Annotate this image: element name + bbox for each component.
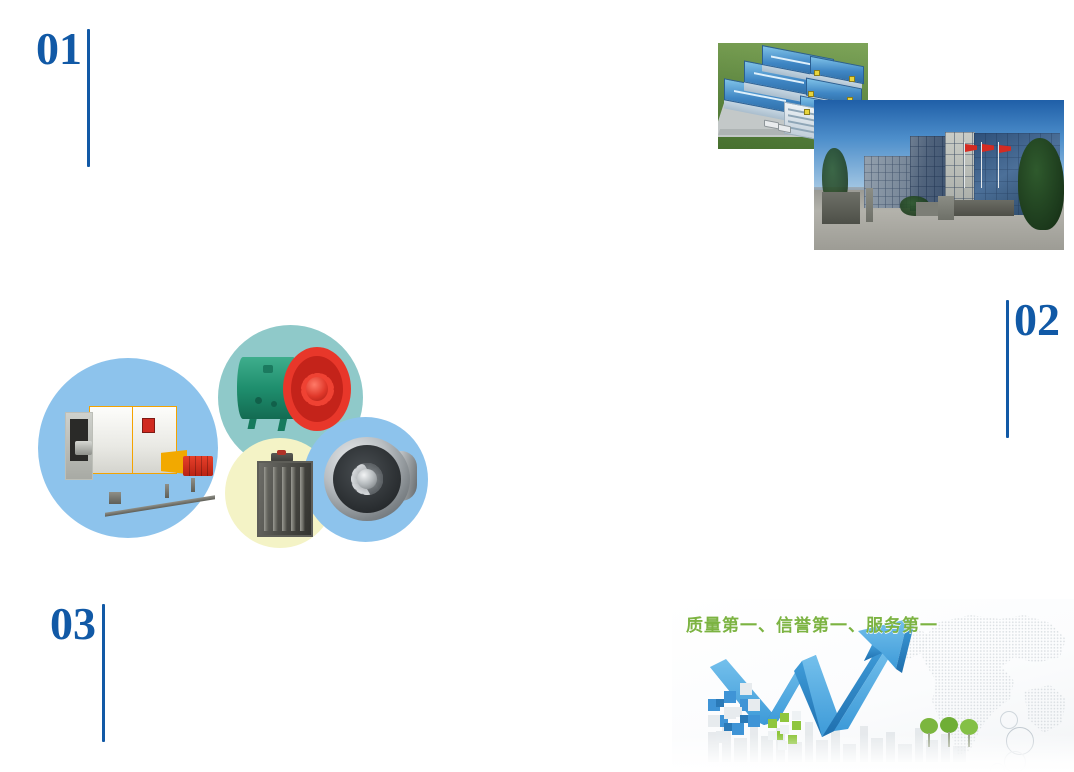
flag-pole-1 — [964, 142, 965, 188]
boxfan-motor — [183, 456, 213, 476]
boxfan-rail-leg-1 — [109, 492, 121, 504]
damper-louvre — [273, 467, 278, 531]
axialfan-red-shroud — [283, 347, 351, 431]
banner-slogan: 质量第一、信誉第一、服务第一 — [686, 611, 938, 636]
boxfan-control-panel — [142, 418, 155, 433]
section-rule-01 — [87, 29, 90, 167]
axialfan-shroud-inner — [291, 356, 343, 422]
factory-canopy-2 — [849, 76, 855, 82]
office-gate-post — [866, 188, 873, 222]
flag-pole-2 — [981, 142, 982, 188]
axialfan-foot-2 — [278, 417, 288, 431]
damper-frame — [257, 461, 313, 537]
boxfan-rail-long — [105, 495, 215, 516]
box-type-fan-unit — [65, 400, 220, 525]
damper-louvre — [291, 467, 296, 531]
page-canvas: 01 02 03 — [0, 0, 1074, 772]
growth-banner-image: 质量第一、信誉第一、服务第一 — [672, 599, 1074, 772]
section-rule-03 — [102, 604, 105, 742]
boxfan-inlet-side — [65, 412, 93, 480]
damper-louvre — [282, 467, 287, 531]
factory-canopy-5 — [804, 109, 810, 115]
damper-knob — [277, 450, 286, 455]
section-number-02: 02 — [1006, 297, 1060, 438]
metalfan-shell — [324, 437, 410, 521]
axialfan-hub — [306, 377, 328, 401]
factory-canopy-1 — [814, 70, 820, 76]
section-number-03-label: 03 — [50, 601, 96, 647]
boxfan-rail-leg-3 — [191, 478, 195, 492]
office-tree-right — [1018, 138, 1064, 230]
boxfan-rail-leg-2 — [165, 484, 169, 498]
boxfan-inlet-opening — [70, 419, 88, 461]
office-guard-house — [822, 192, 860, 224]
bubble-circle-small — [1000, 711, 1018, 729]
office-building-photo — [814, 100, 1064, 250]
damper-louvre — [264, 467, 269, 531]
banner-reflection-fade — [672, 734, 1074, 772]
metal-axial-fan — [320, 435, 415, 525]
office-kiosk — [916, 202, 938, 216]
metalfan-hub — [357, 469, 377, 489]
boxfan-impeller — [75, 441, 92, 455]
damper-louvre — [300, 467, 305, 531]
office-gate-pillar — [938, 196, 954, 220]
section-number-01: 01 — [36, 26, 90, 167]
section-number-03: 03 — [50, 601, 105, 742]
office-fence-wall — [948, 200, 1014, 216]
air-damper-unit — [257, 453, 309, 535]
section-number-01-label: 01 — [36, 26, 82, 72]
ventilation-products-image — [35, 325, 425, 550]
metalfan-bore — [333, 445, 401, 513]
factory-canopy-3 — [808, 91, 814, 97]
section-rule-02 — [1006, 300, 1009, 438]
flag-pole-3 — [998, 142, 999, 188]
section-number-02-label: 02 — [1014, 297, 1060, 343]
axial-flow-fan — [235, 345, 355, 445]
